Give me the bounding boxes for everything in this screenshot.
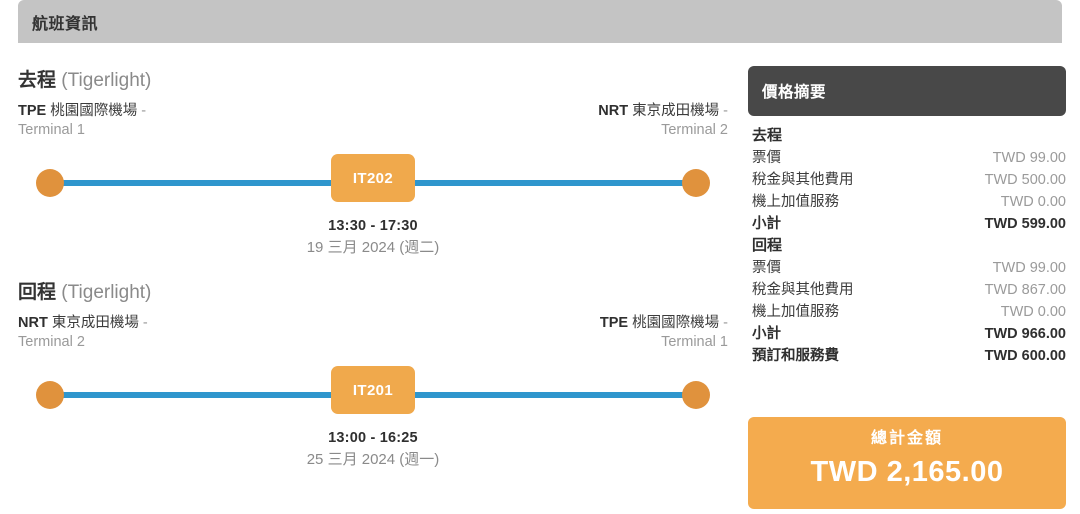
price-row-subtotal-outbound: 小計 TWD 599.00 bbox=[752, 213, 1066, 235]
price-row-label: 票價 bbox=[752, 147, 781, 169]
price-row-label: 預訂和服務費 bbox=[752, 345, 839, 367]
departure-airport-name: 桃園國際機場 bbox=[50, 103, 137, 119]
price-summary-title: 價格摘要 bbox=[762, 80, 826, 102]
leg-carrier-label: (Tigerlight) bbox=[61, 70, 151, 91]
arrival-airport-code: TPE bbox=[600, 315, 628, 331]
airports-row-inbound: NRT 東京成田機場 - Terminal 2 TPE 桃園國際機場 - Ter… bbox=[18, 314, 728, 352]
arrival-airport-name: 東京成田機場 bbox=[632, 103, 719, 119]
leg-title-inbound: 回程 (Tigerlight) bbox=[18, 280, 728, 306]
price-row-value: TWD 99.00 bbox=[993, 257, 1066, 279]
arrival-airport-name: 桃園國際機場 bbox=[632, 315, 719, 331]
price-row: 機上加值服務 TWD 0.00 bbox=[752, 191, 1066, 213]
total-amount-box: 總計金額 TWD 2,165.00 bbox=[748, 417, 1066, 509]
route-origin-dot-icon bbox=[36, 169, 64, 197]
departure-airport-outbound: TPE 桃園國際機場 - Terminal 1 bbox=[18, 102, 146, 140]
arrival-dash: - bbox=[723, 103, 728, 119]
price-row-booking-fee: 預訂和服務費 TWD 600.00 bbox=[752, 345, 1066, 367]
price-row-value: TWD 867.00 bbox=[985, 279, 1066, 301]
arrival-airport-code: NRT bbox=[598, 103, 628, 119]
flight-leg-inbound: 回程 (Tigerlight) NRT 東京成田機場 - Terminal 2 … bbox=[18, 280, 728, 470]
arrival-airport-outbound: NRT 東京成田機場 - Terminal 2 bbox=[598, 102, 728, 140]
flight-times-outbound: 13:30 - 17:30 bbox=[18, 216, 728, 237]
departure-terminal: Terminal 2 bbox=[18, 333, 148, 352]
price-row-value: TWD 0.00 bbox=[1001, 301, 1066, 323]
price-row-label: 小計 bbox=[752, 213, 781, 235]
total-amount-value: TWD 2,165.00 bbox=[748, 452, 1066, 492]
price-row: 稅金與其他費用 TWD 500.00 bbox=[752, 169, 1066, 191]
departure-airport-inbound: NRT 東京成田機場 - Terminal 2 bbox=[18, 314, 148, 352]
price-row-value: TWD 599.00 bbox=[985, 213, 1066, 235]
price-row-label: 機上加值服務 bbox=[752, 191, 839, 213]
departure-airport-code: TPE bbox=[18, 103, 46, 119]
flight-booking-summary: 航班資訊 去程 (Tigerlight) TPE 桃園國際機場 - Termin… bbox=[0, 0, 1080, 514]
flight-number-badge-inbound: IT201 bbox=[331, 366, 415, 414]
departure-dash: - bbox=[141, 103, 146, 119]
price-row: 票價 TWD 99.00 bbox=[752, 147, 1066, 169]
price-row-label: 票價 bbox=[752, 257, 781, 279]
price-row-value: TWD 99.00 bbox=[993, 147, 1066, 169]
flight-times-inbound: 13:00 - 16:25 bbox=[18, 428, 728, 449]
route-graphic-inbound: IT201 bbox=[18, 366, 728, 422]
price-row-value: TWD 500.00 bbox=[985, 169, 1066, 191]
flight-info-header-title: 航班資訊 bbox=[32, 10, 98, 34]
flight-date-inbound: 25 三月 2024 (週一) bbox=[18, 449, 728, 470]
route-graphic-outbound: IT202 bbox=[18, 154, 728, 210]
price-row-label: 稅金與其他費用 bbox=[752, 279, 854, 301]
price-row-subtotal-inbound: 小計 TWD 966.00 bbox=[752, 323, 1066, 345]
flights-column: 去程 (Tigerlight) TPE 桃園國際機場 - Terminal 1 … bbox=[18, 60, 728, 470]
flight-info-header: 航班資訊 bbox=[18, 0, 1062, 43]
price-row: 機上加值服務 TWD 0.00 bbox=[752, 301, 1066, 323]
price-summary-panel: 價格摘要 去程 票價 TWD 99.00 稅金與其他費用 TWD 500.00 … bbox=[748, 66, 1066, 367]
route-destination-dot-icon bbox=[682, 381, 710, 409]
leg-carrier-label: (Tigerlight) bbox=[61, 282, 151, 303]
price-row: 票價 TWD 99.00 bbox=[752, 257, 1066, 279]
price-breakdown-list: 去程 票價 TWD 99.00 稅金與其他費用 TWD 500.00 機上加值服… bbox=[748, 125, 1066, 367]
departure-airport-name: 東京成田機場 bbox=[52, 315, 139, 331]
price-group-label-outbound: 去程 bbox=[752, 125, 1066, 147]
departure-dash: - bbox=[143, 315, 148, 331]
departure-airport-code: NRT bbox=[18, 315, 48, 331]
price-row: 稅金與其他費用 TWD 867.00 bbox=[752, 279, 1066, 301]
price-group-label-inbound: 回程 bbox=[752, 235, 1066, 257]
departure-terminal: Terminal 1 bbox=[18, 121, 146, 140]
price-row-value: TWD 0.00 bbox=[1001, 191, 1066, 213]
leg-title-outbound: 去程 (Tigerlight) bbox=[18, 68, 728, 94]
arrival-dash: - bbox=[723, 315, 728, 331]
schedule-inbound: 13:00 - 16:25 25 三月 2024 (週一) bbox=[18, 428, 728, 470]
price-row-label: 機上加值服務 bbox=[752, 301, 839, 323]
total-amount-label: 總計金額 bbox=[748, 426, 1066, 452]
arrival-terminal: Terminal 2 bbox=[598, 121, 728, 140]
price-row-value: TWD 600.00 bbox=[985, 345, 1066, 367]
flight-date-outbound: 19 三月 2024 (週二) bbox=[18, 237, 728, 258]
arrival-terminal: Terminal 1 bbox=[600, 333, 728, 352]
leg-direction-label: 回程 bbox=[18, 282, 56, 303]
route-destination-dot-icon bbox=[682, 169, 710, 197]
price-row-label: 稅金與其他費用 bbox=[752, 169, 854, 191]
flight-leg-outbound: 去程 (Tigerlight) TPE 桃園國際機場 - Terminal 1 … bbox=[18, 68, 728, 258]
schedule-outbound: 13:30 - 17:30 19 三月 2024 (週二) bbox=[18, 216, 728, 258]
price-row-value: TWD 966.00 bbox=[985, 323, 1066, 345]
price-row-label: 小計 bbox=[752, 323, 781, 345]
airports-row-outbound: TPE 桃園國際機場 - Terminal 1 NRT 東京成田機場 - Ter… bbox=[18, 102, 728, 140]
arrival-airport-inbound: TPE 桃園國際機場 - Terminal 1 bbox=[600, 314, 728, 352]
leg-direction-label: 去程 bbox=[18, 70, 56, 91]
flight-number-badge-outbound: IT202 bbox=[331, 154, 415, 202]
price-summary-header: 價格摘要 bbox=[748, 66, 1066, 116]
route-origin-dot-icon bbox=[36, 381, 64, 409]
